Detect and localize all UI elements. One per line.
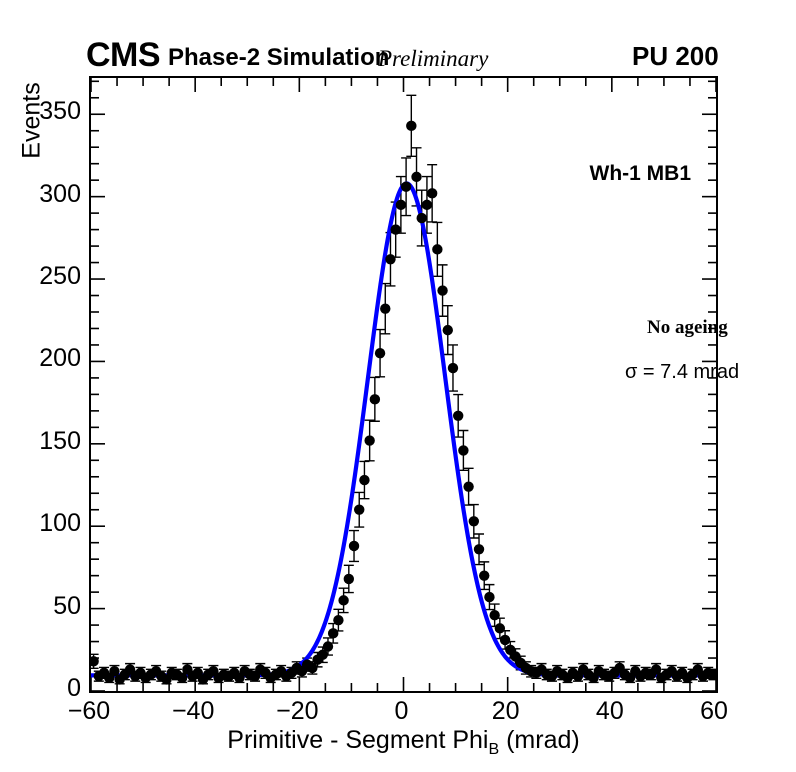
x-tick-label: −40 [153,697,233,726]
data-point [417,213,427,223]
y-tick-label: 250 [5,262,81,291]
pileup-label: PU 200 [632,43,719,69]
y-tick-label: 200 [5,344,81,373]
x-axis-title-units: (mrad) [506,726,580,754]
data-point [406,121,416,131]
data-point [427,188,437,198]
data-point [489,610,499,620]
data-point [380,303,390,313]
data-point [396,200,406,210]
data-point [328,628,338,638]
data-point [422,200,432,210]
data-point [469,516,479,526]
chamber-label: Wh-1 MB1 [590,162,692,186]
y-tick-label: 100 [5,509,81,538]
data-point [463,481,473,491]
data-point [354,505,364,515]
data-point [448,363,458,373]
plot-frame: Wh-1 MB1 No ageing σ = 7.4 mrad [89,76,718,693]
data-point [437,285,447,295]
data-point [344,574,354,584]
data-point [364,435,374,445]
data-point [401,182,411,192]
data-point [385,254,395,264]
data-point [484,592,494,602]
data-point [500,635,510,645]
x-tick-label: 0 [362,697,442,726]
data-point [453,411,463,421]
data-point [479,570,489,580]
y-tick-label: 0 [5,674,81,703]
data-point [458,445,468,455]
data-point [375,348,385,358]
y-tick-label: 300 [5,180,81,209]
y-tick-label: 350 [5,97,81,126]
data-point [432,244,442,254]
x-axis-title-subscript: B [488,741,499,758]
data-point [495,623,505,633]
cms-logo-text: CMS [86,38,160,72]
data-point [359,475,369,485]
y-tick-label: 50 [5,592,81,621]
plot-canvas: CMS Phase-2 Simulation Preliminary PU 20… [0,0,796,772]
data-markers [91,121,716,685]
data-point [390,224,400,234]
x-axis-title-main: Primitive - Segment Phi [227,726,488,754]
data-point [443,325,453,335]
data-point [474,544,484,554]
data-point [370,394,380,404]
simulation-label: Phase-2 Simulation [168,46,389,70]
sigma-label: σ = 7.4 mrad [625,361,739,384]
x-tick-label: −20 [257,697,337,726]
preliminary-label: Preliminary [378,47,488,70]
x-tick-label: 60 [674,697,754,726]
x-tick-label: 20 [466,697,546,726]
data-point [411,172,421,182]
y-tick-label: 150 [5,427,81,456]
data-point [349,541,359,551]
x-tick-label: 40 [570,697,650,726]
data-point [323,641,333,651]
data-point [333,615,343,625]
plot-header: CMS Phase-2 Simulation Preliminary PU 20… [0,40,796,74]
ageing-label: No ageing [647,317,728,339]
x-axis-title: Primitive - Segment PhiB (mrad) [89,726,718,759]
gaussian-fit-curve [91,183,716,675]
data-point [338,595,348,605]
